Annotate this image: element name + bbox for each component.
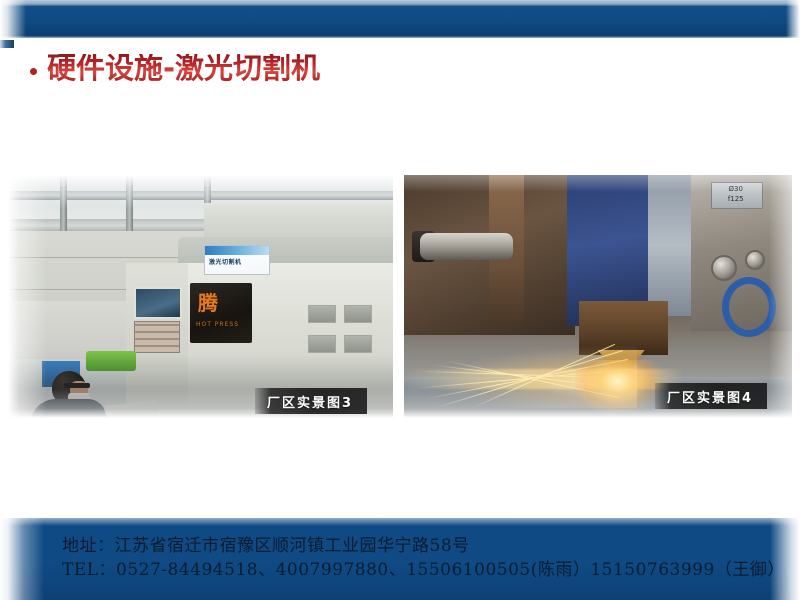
nameplate-header-strip <box>205 246 269 255</box>
machine-upper-housing <box>204 203 393 241</box>
machine-spec-tag-text: Ø30 f125 <box>711 184 761 205</box>
footer-telephone: TEL：0527-84494518、4007997880、15506100505… <box>62 555 785 580</box>
machine-vent-3 <box>308 335 336 353</box>
machine-vent-1 <box>308 305 336 323</box>
spec-tag-line1: Ø30 <box>729 185 743 193</box>
spec-tag-line2: f125 <box>728 195 744 203</box>
top-band-left-fade <box>0 0 26 38</box>
photo-caption-left: 厂区实景图3 <box>255 388 367 414</box>
machine-vent-4 <box>344 335 372 353</box>
photo-factory-laser-cutter: 激光切割机 腾 HOT PRESS <box>8 175 393 418</box>
slide-canvas: 硬件设施-激光切割机 激光切割机 腾 HO <box>0 0 800 600</box>
page-title: 硬件设施-激光切割机 <box>47 54 320 83</box>
spark-burst-core <box>575 360 660 413</box>
footer-left-fade <box>0 518 44 600</box>
top-band-inner <box>10 6 795 32</box>
machine-logo-icon: 腾 <box>198 293 218 313</box>
machine-display-screen <box>134 287 182 319</box>
machine-logo-subtext: HOT PRESS <box>196 321 239 328</box>
photo-laser-head-sparks: Ø30 f125 <box>404 175 792 418</box>
bolt-icon-1 <box>711 255 737 281</box>
top-band-right-fade <box>786 0 800 38</box>
photo-caption-right: 厂区实景图4 <box>655 383 767 409</box>
top-decorative-band <box>0 0 800 38</box>
hydraulic-cylinder <box>420 233 513 260</box>
bullet-icon <box>30 68 37 75</box>
machine-keypad <box>134 321 180 353</box>
footer-top-highlight <box>0 518 800 526</box>
machine-logo-plate: 腾 HOT PRESS <box>190 283 252 343</box>
left-accent-tick <box>0 40 14 48</box>
machine-nameplate: 激光切割机 <box>204 245 270 275</box>
slide-title-row: 硬件设施-激光切割机 <box>30 54 320 83</box>
nameplate-text: 激光切割机 <box>209 257 242 266</box>
footer-address: 地址：江苏省宿迁市宿豫区顺河镇工业园华宁路58号 <box>62 531 470 556</box>
machine-vent-2 <box>344 305 372 323</box>
